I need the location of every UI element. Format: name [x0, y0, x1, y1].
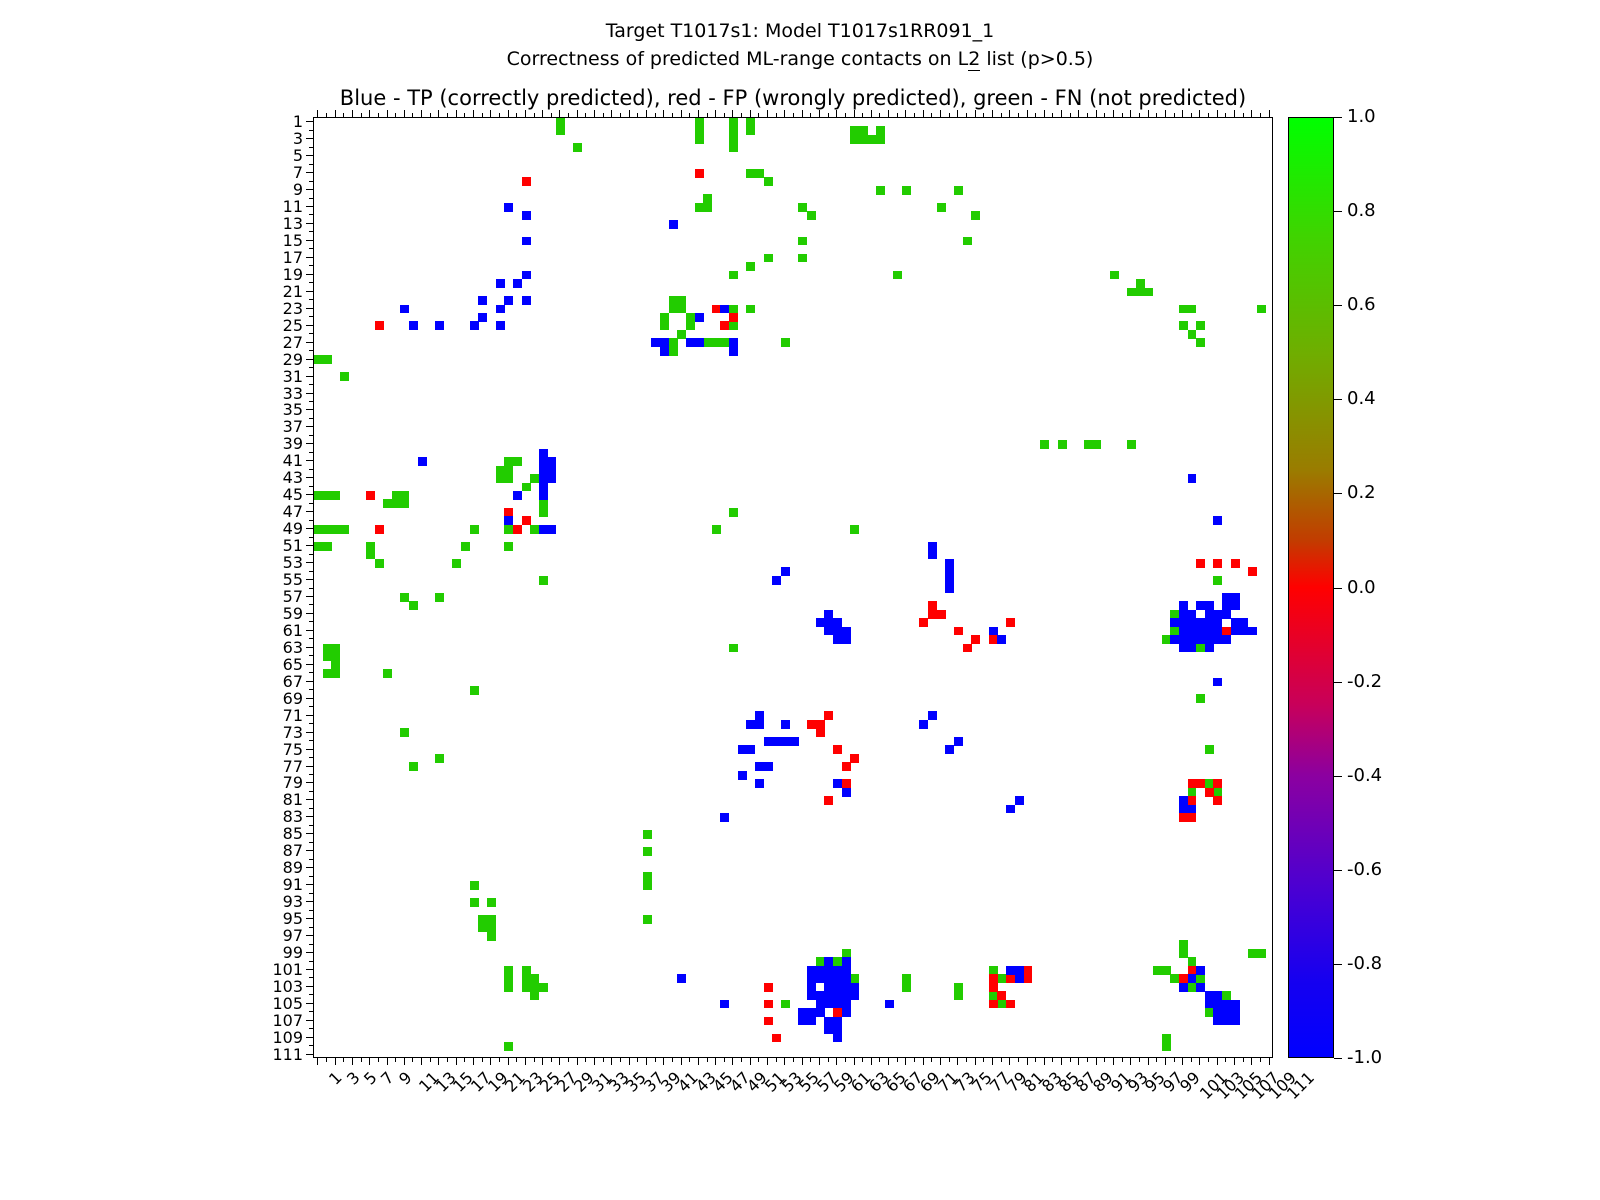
x-tick: [361, 1058, 362, 1062]
y-tick: [309, 893, 313, 894]
contact-cell-fn: [573, 143, 582, 152]
x-tick-top: [412, 113, 413, 117]
contact-cell-fn: [470, 898, 479, 907]
y-tick: [306, 511, 313, 512]
contact-cell-tp: [842, 788, 851, 797]
colorbar-tick-label: -0.6: [1347, 859, 1382, 880]
x-tick-top: [473, 110, 474, 117]
y-tick: [306, 952, 313, 953]
x-tick-label: 3: [343, 1068, 364, 1089]
x-tick-top: [1217, 110, 1218, 117]
contact-cell-fn: [902, 983, 911, 992]
contact-cell-fn: [366, 550, 375, 559]
y-tick: [309, 655, 313, 656]
x-tick: [551, 1058, 552, 1062]
contact-cell-fn: [798, 203, 807, 212]
contact-cell-fn: [504, 525, 513, 534]
contact-cell-fn: [1188, 983, 1197, 992]
contact-cell-tp: [409, 321, 418, 330]
contact-cell-fn: [989, 966, 998, 975]
contact-cell-tp: [1170, 618, 1179, 627]
contact-cell-fn: [798, 254, 807, 263]
y-tick: [306, 562, 313, 563]
x-tick-top: [802, 110, 803, 117]
contact-cell-fp: [850, 754, 859, 763]
y-tick: [309, 638, 313, 639]
contact-cell-tp: [729, 347, 738, 356]
y-tick: [306, 545, 313, 546]
contact-cell-fn: [522, 966, 531, 975]
x-tick: [828, 1058, 829, 1062]
x-tick-top: [551, 113, 552, 117]
contact-cell-tp: [755, 711, 764, 720]
x-tick: [447, 1058, 448, 1062]
x-tick: [784, 1058, 785, 1065]
contact-cell-fn: [1162, 1042, 1171, 1051]
contact-cell-fn: [893, 271, 902, 280]
contact-cell-fn: [997, 1000, 1006, 1009]
contact-cell-tp: [833, 618, 842, 627]
y-tick: [306, 240, 313, 241]
y-tick: [306, 596, 313, 597]
contact-cell-tp: [833, 966, 842, 975]
y-tick: [309, 706, 313, 707]
contact-cell-fn: [746, 169, 755, 178]
x-tick: [516, 1058, 517, 1062]
contact-cell-fn: [1188, 330, 1197, 339]
contact-cell-fn: [522, 483, 531, 492]
contact-cell-fn: [643, 847, 652, 856]
x-tick: [957, 1058, 958, 1065]
contact-cell-fn: [331, 525, 340, 534]
x-tick: [438, 1058, 439, 1065]
contact-cell-tp: [816, 618, 825, 627]
contact-cell-fn: [720, 338, 729, 347]
contact-cell-tp: [1213, 627, 1222, 636]
contact-cell-fn: [392, 491, 401, 500]
x-tick: [1182, 1058, 1183, 1065]
y-tick: [309, 876, 313, 877]
y-tick: [306, 409, 313, 410]
contact-cell-fn: [807, 211, 816, 220]
contact-cell-fp: [842, 762, 851, 771]
x-tick-top: [361, 113, 362, 117]
x-tick-top: [1018, 113, 1019, 117]
contact-cell-tp: [1213, 1000, 1222, 1009]
contact-cell-fp: [997, 991, 1006, 1000]
contact-cell-tp: [1188, 974, 1197, 983]
contact-cell-tp: [1196, 627, 1205, 636]
x-tick: [317, 1058, 318, 1065]
contact-cell-fn: [513, 457, 522, 466]
contact-cell-tp: [1222, 1017, 1231, 1026]
x-tick-top: [646, 110, 647, 117]
contact-cell-fp: [1006, 974, 1015, 983]
contact-cell-tp: [997, 635, 1006, 644]
x-tick: [559, 1058, 560, 1065]
contact-cell-fn: [470, 686, 479, 695]
contact-cell-fn: [530, 525, 539, 534]
x-tick-top: [456, 110, 457, 117]
x-tick: [378, 1058, 379, 1062]
colorbar-tick: [1334, 682, 1342, 683]
contact-cell-tp: [1205, 644, 1214, 653]
x-tick-top: [1243, 113, 1244, 117]
suptitle-l2-underlined: 2: [968, 48, 980, 71]
contact-cell-fp: [1196, 559, 1205, 568]
x-tick-top: [378, 113, 379, 117]
x-tick: [1251, 1058, 1252, 1065]
x-tick-top: [1052, 113, 1053, 117]
x-tick: [1243, 1058, 1244, 1062]
contact-cell-tp: [504, 296, 513, 305]
contact-cell-tp: [954, 737, 963, 746]
x-tick: [1104, 1058, 1105, 1062]
contact-cell-tp: [824, 1017, 833, 1026]
x-tick: [715, 1058, 716, 1065]
x-tick: [1269, 1058, 1270, 1065]
contact-cell-fn: [669, 338, 678, 347]
x-tick: [750, 1058, 751, 1065]
x-tick-top: [1139, 113, 1140, 117]
x-tick: [1009, 1058, 1010, 1065]
y-tick: [306, 647, 313, 648]
contact-cell-fn: [842, 949, 851, 958]
x-tick-top: [1096, 110, 1097, 117]
x-tick: [923, 1058, 924, 1065]
contact-cell-fn: [660, 313, 669, 322]
x-tick-top: [1174, 113, 1175, 117]
y-tick: [306, 359, 313, 360]
contact-cell-tp: [1213, 1008, 1222, 1017]
x-tick-top: [1130, 110, 1131, 117]
x-tick-top: [1070, 113, 1071, 117]
y-tick: [306, 138, 313, 139]
contact-cell-tp: [651, 338, 660, 347]
contact-cell-fn: [660, 321, 669, 330]
x-tick: [975, 1058, 976, 1065]
contact-cell-tp: [1196, 966, 1205, 975]
y-tick: [306, 443, 313, 444]
contact-cell-fn: [323, 644, 332, 653]
contact-cell-fn: [902, 186, 911, 195]
contact-cell-fn: [331, 661, 340, 670]
contact-cell-tp: [548, 525, 557, 534]
contact-cell-fn: [1257, 305, 1266, 314]
x-tick: [568, 1058, 569, 1062]
contact-cell-fn: [1144, 288, 1153, 297]
x-tick: [879, 1058, 880, 1062]
x-tick-top: [845, 113, 846, 117]
x-tick: [681, 1058, 682, 1065]
contact-cell-tp: [478, 313, 487, 322]
contact-cell-tp: [824, 966, 833, 975]
contact-cell-fn: [1196, 644, 1205, 653]
contact-cell-tp: [755, 720, 764, 729]
contact-cell-fp: [375, 321, 384, 330]
contact-cell-tp: [1006, 805, 1015, 814]
x-tick-top: [879, 113, 880, 117]
x-tick: [490, 1058, 491, 1065]
x-tick-top: [1234, 110, 1235, 117]
y-tick: [309, 350, 313, 351]
contact-cell-fn: [729, 508, 738, 517]
contact-cell-tp: [1213, 618, 1222, 627]
contact-cell-fn: [375, 559, 384, 568]
suptitle-line-1: Target T1017s1: Model T1017s1RR091_1: [0, 18, 1600, 46]
y-tick: [309, 859, 313, 860]
colorbar[interactable]: [1288, 117, 1334, 1058]
contact-cell-fn: [340, 372, 349, 381]
x-tick: [741, 1058, 742, 1062]
contact-cell-fn: [400, 499, 409, 508]
contact-cell-tp: [824, 618, 833, 627]
y-tick: [306, 206, 313, 207]
x-tick: [1018, 1058, 1019, 1062]
x-tick-top: [767, 110, 768, 117]
contact-cell-fn: [504, 474, 513, 483]
contact-cell-tp: [928, 542, 937, 551]
contact-cell-tp: [781, 567, 790, 576]
contact-cell-fn: [1162, 1034, 1171, 1043]
x-tick: [1122, 1058, 1123, 1062]
y-tick: [309, 689, 313, 690]
y-tick: [309, 333, 313, 334]
x-tick: [966, 1058, 967, 1062]
contact-cell-fp: [1006, 1000, 1015, 1009]
x-tick: [1139, 1058, 1140, 1062]
contact-cell-fn: [487, 915, 496, 924]
x-tick-top: [577, 110, 578, 117]
contact-cell-fp: [833, 745, 842, 754]
y-tick: [306, 342, 313, 343]
contact-cell-tp: [833, 1025, 842, 1034]
x-tick-label: 5: [360, 1068, 381, 1089]
contact-cell-fn: [323, 542, 332, 551]
x-tick: [1113, 1058, 1114, 1065]
contact-cell-tp: [539, 491, 548, 500]
x-tick-top: [1251, 110, 1252, 117]
x-tick: [758, 1058, 759, 1062]
contact-cell-fn: [556, 126, 565, 135]
x-tick-top: [732, 110, 733, 117]
contact-cell-fn: [868, 135, 877, 144]
contact-cell-fn: [876, 135, 885, 144]
contact-cell-tp: [833, 983, 842, 992]
x-tick-top: [966, 113, 967, 117]
contact-cell-fn: [478, 915, 487, 924]
y-tick: [309, 147, 313, 148]
x-tick-top: [352, 110, 353, 117]
y-tick: [309, 435, 313, 436]
axes-title: Blue - TP (correctly predicted), red - F…: [313, 86, 1273, 110]
y-tick: [306, 698, 313, 699]
colorbar-tick-label: 0.6: [1347, 294, 1376, 315]
contact-cell-tp: [513, 279, 522, 288]
contact-cell-fn: [954, 991, 963, 1000]
x-tick-top: [914, 113, 915, 117]
contact-cell-tp: [824, 983, 833, 992]
x-tick: [412, 1058, 413, 1062]
contact-cell-tp: [478, 296, 487, 305]
y-tick: [309, 282, 313, 283]
contact-cell-fn: [859, 126, 868, 135]
contact-cell-tp: [1213, 516, 1222, 525]
y-tick: [306, 935, 313, 936]
contact-cell-fn: [504, 542, 513, 551]
contact-cell-tp: [539, 466, 548, 475]
colorbar-tick: [1334, 399, 1342, 400]
contact-cell-fn: [712, 525, 721, 534]
x-tick-top: [637, 113, 638, 117]
y-tick: [306, 681, 313, 682]
contact-cell-tp: [539, 449, 548, 458]
contact-cell-fn: [712, 338, 721, 347]
x-tick: [473, 1058, 474, 1065]
x-tick: [949, 1058, 950, 1062]
x-tick-top: [741, 113, 742, 117]
contact-cell-tp: [669, 220, 678, 229]
x-tick-top: [464, 113, 465, 117]
contact-cell-tp: [772, 737, 781, 746]
x-tick: [1130, 1058, 1131, 1065]
contact-cell-fn: [850, 126, 859, 135]
contact-cell-fn: [530, 991, 539, 1000]
y-tick: [306, 749, 313, 750]
y-tick: [309, 214, 313, 215]
y-tick: [306, 901, 313, 902]
y-tick: [309, 977, 313, 978]
x-tick-top: [888, 110, 889, 117]
x-tick-top: [438, 110, 439, 117]
x-tick-top: [655, 113, 656, 117]
contact-cell-fn: [331, 644, 340, 653]
contact-cell-tp: [824, 957, 833, 966]
y-tick: [306, 494, 313, 495]
contact-cell-tp: [1222, 1008, 1231, 1017]
contact-cell-fn: [530, 983, 539, 992]
x-tick-label: 9: [394, 1068, 415, 1089]
contact-cell-tp: [400, 305, 409, 314]
contact-cell-fp: [1196, 779, 1205, 788]
contact-cell-fn: [1084, 440, 1093, 449]
x-tick-top: [620, 113, 621, 117]
contact-cell-fn: [695, 126, 704, 135]
x-tick: [1061, 1058, 1062, 1065]
contact-cell-tp: [1213, 1017, 1222, 1026]
x-tick: [672, 1058, 673, 1062]
x-tick-top: [1001, 113, 1002, 117]
x-tick: [577, 1058, 578, 1065]
x-tick: [905, 1058, 906, 1065]
contact-cell-tp: [1188, 644, 1197, 653]
contact-cell-fn: [539, 576, 548, 585]
y-tick: [306, 918, 313, 919]
colorbar-tick: [1334, 1058, 1342, 1059]
contact-cell-fn: [323, 652, 332, 661]
contact-cell-fn: [1179, 949, 1188, 958]
contact-cell-fp: [989, 983, 998, 992]
contact-cell-fn: [781, 338, 790, 347]
y-tick: [306, 477, 313, 478]
contact-cell-tp: [539, 525, 548, 534]
colorbar-tick: [1334, 493, 1342, 494]
contact-cell-fn: [314, 355, 323, 364]
contact-cell-fn: [669, 305, 678, 314]
contact-cell-fn: [340, 525, 349, 534]
x-tick: [732, 1058, 733, 1065]
contact-cell-fn: [314, 525, 323, 534]
contact-cell-tp: [824, 1025, 833, 1034]
x-tick: [871, 1058, 872, 1065]
contact-cell-tp: [1015, 966, 1024, 975]
contact-cell-fn: [963, 237, 972, 246]
x-tick: [1199, 1058, 1200, 1065]
contact-cell-fn: [366, 542, 375, 551]
contact-cell-tp: [1196, 635, 1205, 644]
contact-cell-tp: [833, 1017, 842, 1026]
y-tick: [309, 299, 313, 300]
contact-cell-fn: [383, 669, 392, 678]
contact-cell-fp: [1006, 618, 1015, 627]
contact-cell-tp: [522, 211, 531, 220]
y-tick: [309, 791, 313, 792]
contact-cell-fn: [643, 872, 652, 881]
y-tick: [306, 969, 313, 970]
x-tick: [430, 1058, 431, 1062]
contact-cell-fn: [539, 508, 548, 517]
y-tick: [309, 1045, 313, 1046]
y-tick: [309, 723, 313, 724]
contact-cell-tp: [807, 991, 816, 1000]
x-tick-top: [1156, 113, 1157, 117]
contact-cell-fp: [772, 1034, 781, 1043]
colorbar-tick: [1334, 870, 1342, 871]
x-tick-top: [369, 110, 370, 117]
x-tick-top: [387, 110, 388, 117]
contact-cell-fn: [1127, 440, 1136, 449]
contact-map-plot[interactable]: [313, 117, 1273, 1058]
contact-cell-fp: [807, 720, 816, 729]
suptitle-line-2-pre: Correctness of predicted ML-range contac…: [507, 48, 969, 70]
contact-cell-fn: [1188, 305, 1197, 314]
x-tick-top: [534, 113, 535, 117]
x-tick-top: [707, 113, 708, 117]
x-tick: [793, 1058, 794, 1062]
contact-cell-fn: [409, 601, 418, 610]
contact-cell-tp: [1213, 635, 1222, 644]
contact-cell-fp: [1205, 788, 1214, 797]
x-tick: [698, 1058, 699, 1065]
x-tick: [862, 1058, 863, 1062]
contact-cell-fn: [695, 135, 704, 144]
y-tick: [309, 486, 313, 487]
contact-cell-tp: [695, 313, 704, 322]
contact-cell-fn: [1196, 694, 1205, 703]
x-tick-top: [871, 110, 872, 117]
contact-cell-tp: [755, 762, 764, 771]
contact-cell-fn: [452, 559, 461, 568]
contact-cell-fn: [850, 135, 859, 144]
x-tick-top: [897, 113, 898, 117]
contact-cell-fp: [720, 321, 729, 330]
x-tick-top: [681, 110, 682, 117]
contact-cell-tp: [1222, 593, 1231, 602]
contact-cell-fn: [669, 347, 678, 356]
contact-cell-fn: [1162, 635, 1171, 644]
contact-cell-tp: [418, 457, 427, 466]
contact-cell-fn: [954, 186, 963, 195]
